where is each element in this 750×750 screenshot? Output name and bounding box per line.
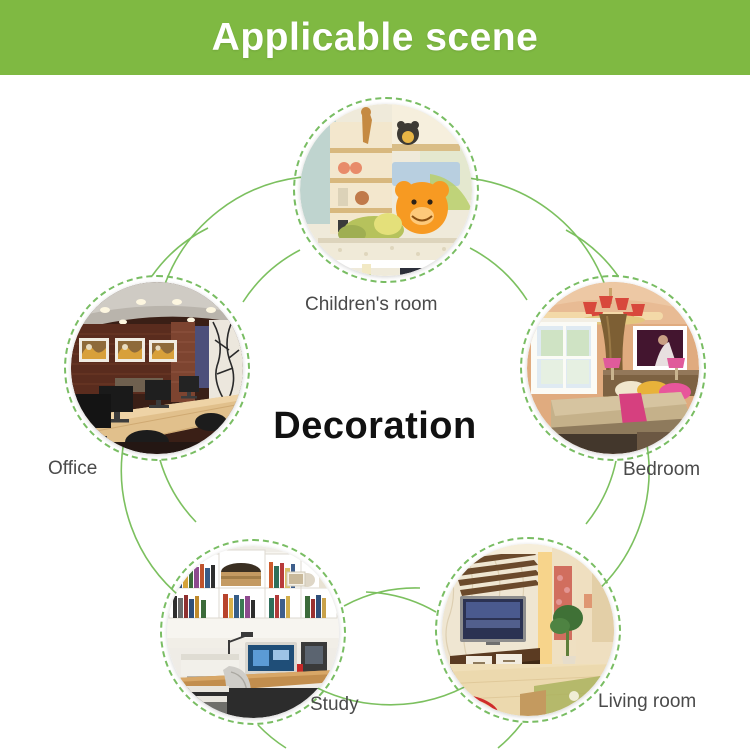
living-room-photo: [442, 544, 614, 716]
applicable-scene-infographic: Applicable scene: [0, 0, 750, 750]
scene-label-study: Study: [310, 694, 359, 716]
scene-label-bedroom: Bedroom: [623, 459, 700, 481]
tail-children-right: [470, 248, 527, 300]
scene-node-childrens-room[interactable]: [293, 97, 479, 283]
tail-bedroom-bottom: [586, 461, 616, 524]
study-photo: [167, 546, 339, 718]
childrens-room-photo: [300, 104, 472, 276]
scene-label-childrens-room: Children's room: [305, 294, 437, 316]
tail-children-left: [243, 250, 300, 302]
tail-office-bottom: [160, 460, 196, 522]
scene-label-living-room: Living room: [598, 691, 696, 713]
tail-living-left: [366, 592, 436, 612]
tail-study-right: [344, 588, 420, 606]
scene-node-living-room[interactable]: [435, 537, 621, 723]
tail-living-bottom: [498, 723, 522, 748]
center-title: Decoration: [0, 405, 750, 448]
scene-label-office: Office: [48, 458, 97, 480]
tail-bedroom-top: [566, 230, 618, 276]
tail-study-bottom: [258, 725, 286, 748]
